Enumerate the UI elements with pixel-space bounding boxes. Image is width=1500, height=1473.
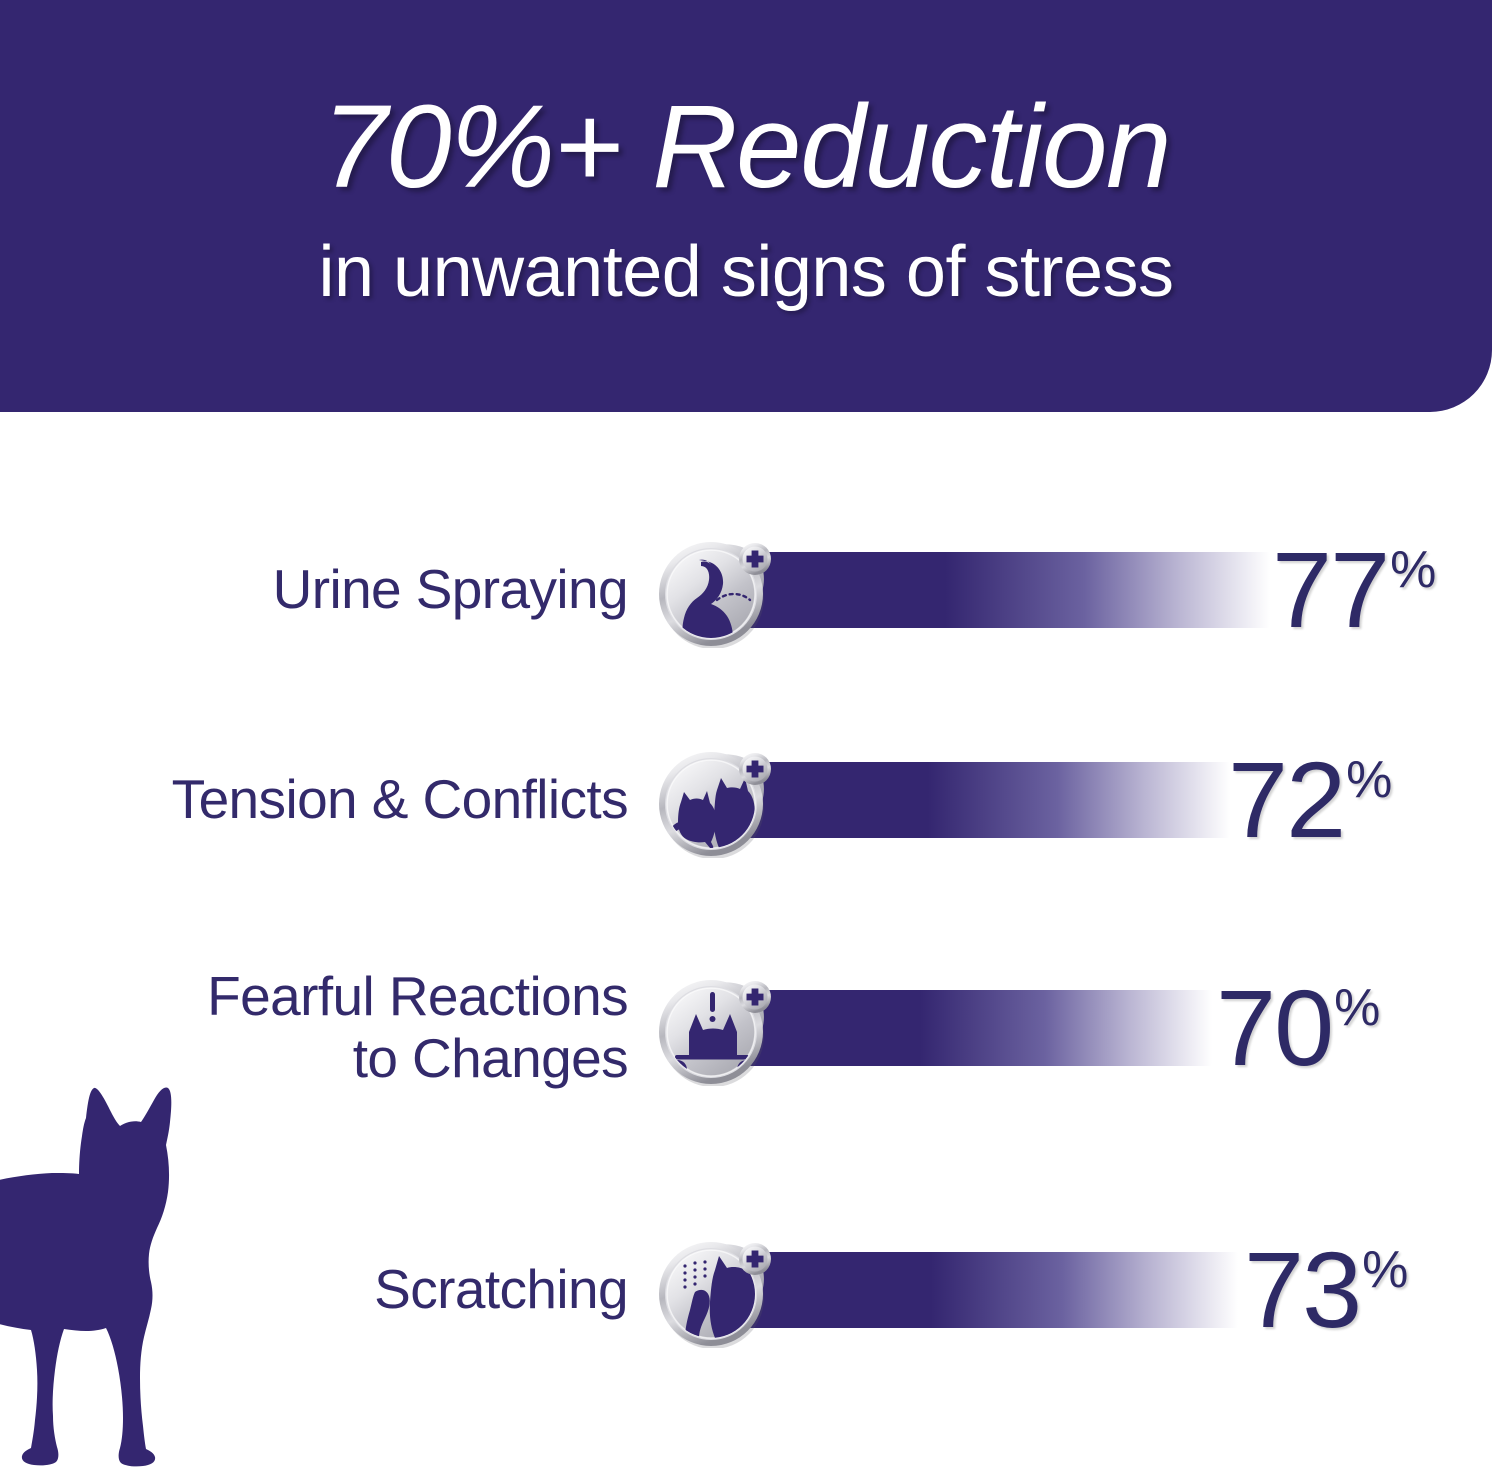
value-percentage: 77% xyxy=(1272,530,1436,650)
chart-row: Tension & Conflicts xyxy=(0,740,1500,860)
cat-scratching-badge-icon xyxy=(655,1236,781,1348)
percent-symbol: % xyxy=(1362,1244,1408,1296)
row-label-line: Tension & Conflicts xyxy=(172,769,628,831)
cat-spraying-badge-icon xyxy=(655,536,781,648)
fearful-cat-hiding-badge-icon xyxy=(655,974,781,1086)
infographic-page: 70%+ Reduction in unwanted signs of stre… xyxy=(0,0,1500,1473)
row-label-line: to Changes xyxy=(353,1028,628,1090)
header-banner: 70%+ Reduction in unwanted signs of stre… xyxy=(0,0,1492,412)
percent-symbol: % xyxy=(1346,754,1392,806)
page-title: 70%+ Reduction xyxy=(0,88,1492,206)
row-label-line: Urine Spraying xyxy=(273,559,628,621)
value-number: 77 xyxy=(1272,536,1388,644)
percent-symbol: % xyxy=(1390,544,1436,596)
page-subtitle: in unwanted signs of stress xyxy=(0,236,1492,308)
value-number: 70 xyxy=(1216,974,1332,1082)
row-label: Fearful Reactionsto Changes xyxy=(68,968,628,1088)
row-label: Tension & Conflicts xyxy=(68,740,628,860)
value-percentage: 72% xyxy=(1228,740,1392,860)
value-number: 72 xyxy=(1228,746,1344,854)
percent-symbol: % xyxy=(1334,982,1380,1034)
value-percentage: 70% xyxy=(1216,968,1380,1088)
chart-row: Urine Spraying xyxy=(0,530,1500,650)
value-percentage: 73% xyxy=(1244,1230,1408,1350)
row-label: Urine Spraying xyxy=(68,530,628,650)
row-label-line: Scratching xyxy=(374,1259,628,1321)
row-label-line: Fearful Reactions xyxy=(207,966,628,1028)
chart-row: Fearful Reactionsto Changes xyxy=(0,968,1500,1088)
two-cats-tension-badge-icon xyxy=(655,746,781,858)
standing-cat-silhouette-icon xyxy=(0,1082,238,1473)
value-number: 73 xyxy=(1244,1236,1360,1344)
